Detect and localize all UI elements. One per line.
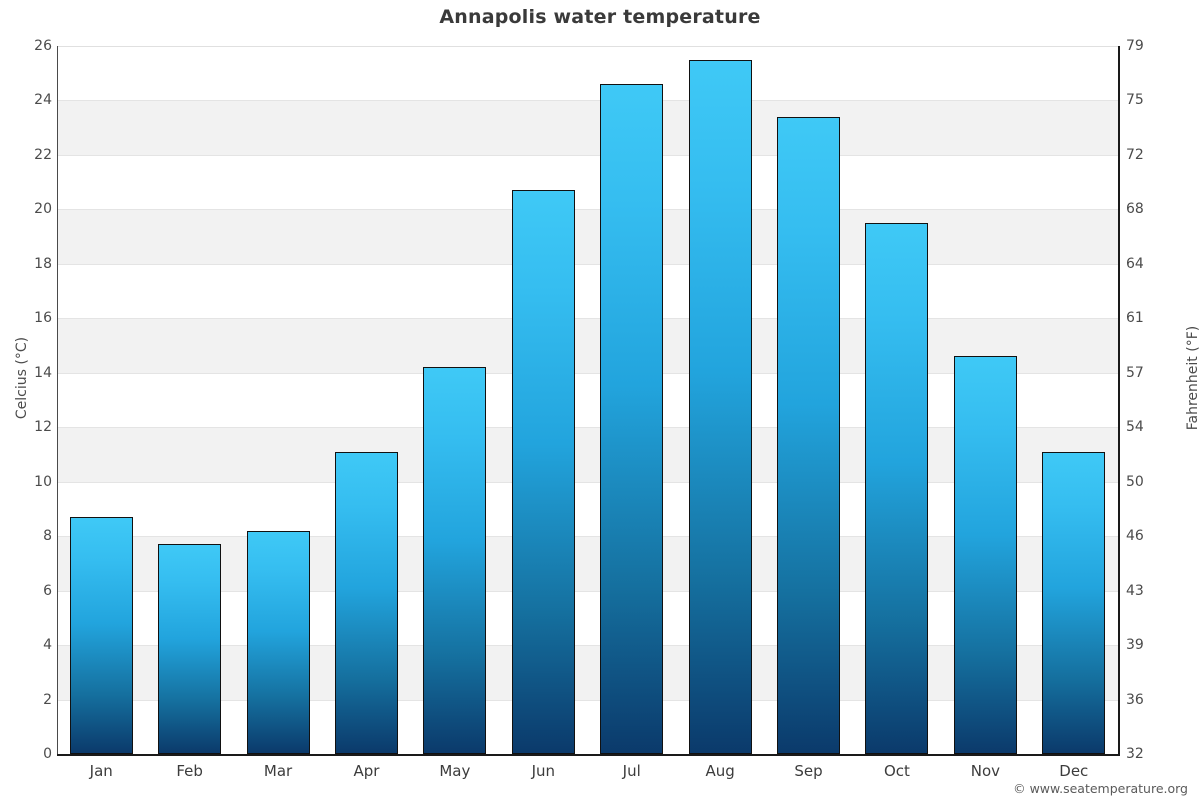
bar-jul[interactable] bbox=[600, 84, 663, 754]
x-tick-label-jun: Jun bbox=[499, 762, 587, 780]
y2-axis-title: Fahrenheit (°F) bbox=[1185, 303, 1200, 453]
bar-apr[interactable] bbox=[335, 452, 398, 754]
plot-top-border bbox=[57, 46, 1118, 47]
plot-area bbox=[57, 46, 1118, 754]
y2-axis-line bbox=[1118, 46, 1120, 755]
y2-tick-label: 75 bbox=[1126, 93, 1176, 107]
y-tick-label: 18 bbox=[6, 257, 52, 271]
x-tick-label-aug: Aug bbox=[676, 762, 764, 780]
x-tick-label-may: May bbox=[411, 762, 499, 780]
y-axis-title: Celcius (°C) bbox=[14, 318, 30, 438]
x-tick-label-oct: Oct bbox=[853, 762, 941, 780]
bar-aug[interactable] bbox=[689, 60, 752, 754]
y2-tick-label: 32 bbox=[1126, 747, 1176, 761]
y-tick-label: 2 bbox=[6, 693, 52, 707]
footer-credit: © www.seatemperature.org bbox=[1013, 781, 1188, 796]
x-tick-label-jul: Jul bbox=[588, 762, 676, 780]
y-tick-label: 24 bbox=[6, 93, 52, 107]
y-tick-label: 6 bbox=[6, 584, 52, 598]
y2-tick-label: 72 bbox=[1126, 148, 1176, 162]
y2-tick-label: 57 bbox=[1126, 366, 1176, 380]
y2-tick-label: 39 bbox=[1126, 638, 1176, 652]
y2-tick-label: 43 bbox=[1126, 584, 1176, 598]
y-tick-label: 26 bbox=[6, 39, 52, 53]
bar-jan[interactable] bbox=[70, 517, 133, 754]
y2-tick-label: 64 bbox=[1126, 257, 1176, 271]
y-tick-label: 4 bbox=[6, 638, 52, 652]
x-axis-category-labels: JanFebMarAprMayJunJulAugSepOctNovDec bbox=[57, 762, 1118, 786]
bar-dec[interactable] bbox=[1042, 452, 1105, 754]
y2-tick-label: 46 bbox=[1126, 529, 1176, 543]
y2-tick-label: 54 bbox=[1126, 420, 1176, 434]
bar-sep[interactable] bbox=[777, 117, 840, 754]
y2-tick-label: 61 bbox=[1126, 311, 1176, 325]
y-tick-label: 22 bbox=[6, 148, 52, 162]
y2-tick-label: 79 bbox=[1126, 39, 1176, 53]
x-tick-label-apr: Apr bbox=[322, 762, 410, 780]
y2-tick-label: 68 bbox=[1126, 202, 1176, 216]
y-tick-label: 0 bbox=[6, 747, 52, 761]
x-tick-label-feb: Feb bbox=[145, 762, 233, 780]
bar-jun[interactable] bbox=[512, 190, 575, 754]
bar-nov[interactable] bbox=[954, 356, 1017, 754]
chart-title: Annapolis water temperature bbox=[0, 6, 1200, 28]
bar-mar[interactable] bbox=[247, 531, 310, 754]
x-tick-label-dec: Dec bbox=[1030, 762, 1118, 780]
x-axis-line bbox=[57, 754, 1120, 756]
x-tick-label-jan: Jan bbox=[57, 762, 145, 780]
y-tick-label: 8 bbox=[6, 529, 52, 543]
bars-container bbox=[57, 46, 1118, 754]
y2-axis-tick-labels: 3236394346505457616468727579 bbox=[1126, 0, 1186, 800]
x-tick-label-mar: Mar bbox=[234, 762, 322, 780]
y2-tick-label: 50 bbox=[1126, 475, 1176, 489]
bar-oct[interactable] bbox=[865, 223, 928, 754]
bar-may[interactable] bbox=[423, 367, 486, 754]
bar-feb[interactable] bbox=[158, 544, 221, 754]
y-tick-label: 10 bbox=[6, 475, 52, 489]
x-tick-label-nov: Nov bbox=[941, 762, 1029, 780]
y-tick-label: 20 bbox=[6, 202, 52, 216]
y2-tick-label: 36 bbox=[1126, 693, 1176, 707]
x-tick-label-sep: Sep bbox=[764, 762, 852, 780]
y-axis-line bbox=[57, 46, 58, 755]
